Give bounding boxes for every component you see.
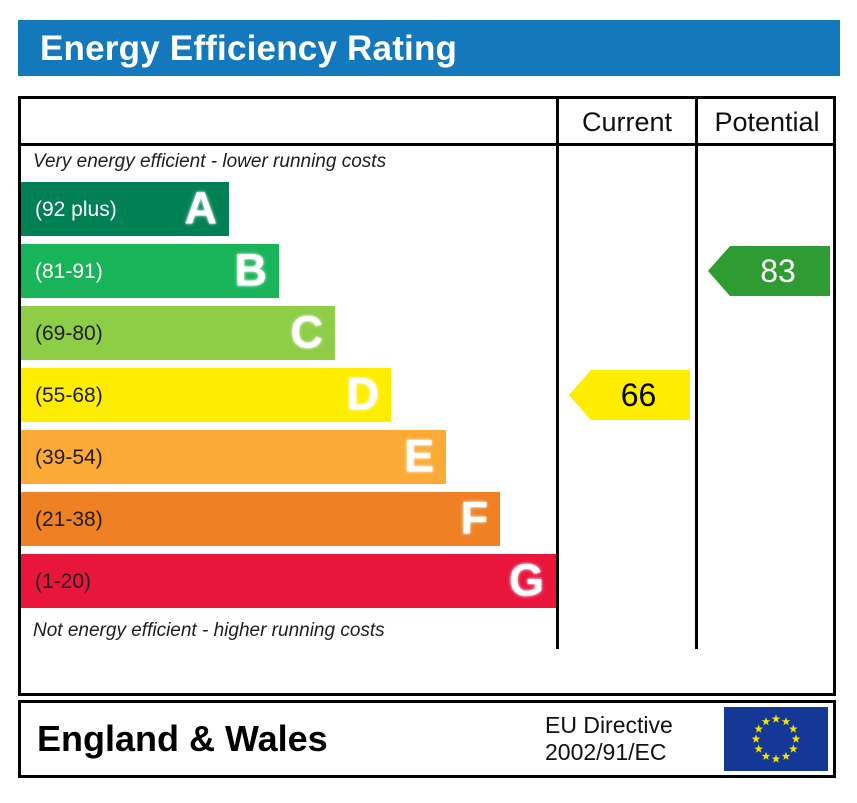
band-row-c: (69-80)C [21, 306, 335, 360]
region-label: England & Wales [37, 721, 328, 757]
band-letter-a: A [185, 186, 218, 231]
energy-efficiency-certificate: Energy Efficiency Rating Current Potenti… [0, 0, 857, 803]
title-bar: Energy Efficiency Rating [18, 20, 840, 76]
band-range-a: (92 plus) [21, 199, 117, 220]
band-letter-d: D [347, 372, 380, 417]
eu-flag-icon [724, 707, 828, 771]
band-letter-b: B [235, 248, 268, 293]
band-range-c: (69-80) [21, 323, 103, 344]
column-header-potential: Potential [698, 107, 836, 137]
band-range-e: (39-54) [21, 447, 103, 468]
rating-table: Current Potential Very energy efficient … [18, 96, 836, 696]
body-column-divider-2 [695, 146, 698, 649]
potential-rating-value: 83 [742, 255, 796, 287]
band-range-f: (21-38) [21, 509, 103, 530]
caption-not-efficient: Not energy efficient - higher running co… [33, 620, 385, 642]
table-header-row: Current Potential [21, 99, 833, 146]
band-list: (92 plus)A(81-91)B(69-80)C(55-68)D(39-54… [21, 182, 556, 618]
band-range-b: (81-91) [21, 261, 103, 282]
caption-very-efficient: Very energy efficient - lower running co… [33, 151, 386, 173]
potential-rating-arrow: 83 [708, 246, 830, 296]
band-row-g: (1-20)G [21, 554, 556, 608]
band-letter-g: G [509, 558, 544, 603]
eu-directive-line-2: 2002/91/EC [545, 739, 673, 766]
current-rating-arrow: 66 [569, 370, 690, 420]
band-row-d: (55-68)D [21, 368, 391, 422]
band-letter-f: F [461, 496, 489, 541]
band-letter-c: C [291, 310, 324, 355]
column-header-current: Current [559, 107, 695, 137]
table-body: Very energy efficient - lower running co… [21, 146, 833, 649]
page-title: Energy Efficiency Rating [18, 31, 457, 66]
band-letter-e: E [404, 434, 434, 479]
band-row-a: (92 plus)A [21, 182, 229, 236]
band-row-f: (21-38)F [21, 492, 500, 546]
body-column-divider-1 [556, 146, 559, 649]
current-rating-value: 66 [603, 379, 657, 411]
band-row-e: (39-54)E [21, 430, 446, 484]
band-range-d: (55-68) [21, 385, 103, 406]
eu-directive-line-1: EU Directive [545, 712, 673, 739]
band-range-g: (1-20) [21, 571, 91, 592]
eu-directive-label: EU Directive 2002/91/EC [545, 712, 673, 766]
footer-bar: England & Wales EU Directive 2002/91/EC [18, 700, 836, 778]
band-row-b: (81-91)B [21, 244, 279, 298]
